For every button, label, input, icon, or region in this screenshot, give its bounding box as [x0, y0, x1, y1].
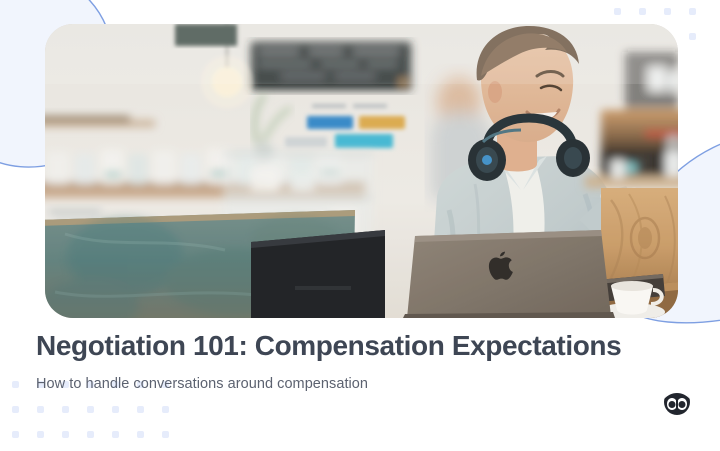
slide-canvas: Negotiation 101: Compensation Expectatio… — [0, 0, 720, 451]
page-subtitle: How to handle conversations around compe… — [36, 376, 686, 392]
owl-logo — [661, 385, 693, 417]
hero-image — [45, 24, 678, 318]
text-block: Negotiation 101: Compensation Expectatio… — [36, 330, 686, 392]
page-title: Negotiation 101: Compensation Expectatio… — [36, 330, 686, 362]
